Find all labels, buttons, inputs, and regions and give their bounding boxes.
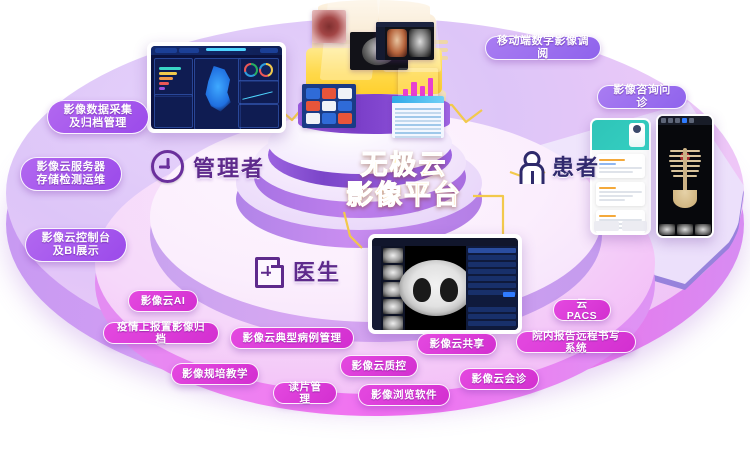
pill-line-1: 影像云典型病例管理 [243, 332, 342, 344]
pill-doctor-cloud-ai[interactable]: 影像云AI [128, 290, 198, 312]
pill-line-1: 影像云AI [141, 295, 186, 307]
pill-admin-console-bi[interactable]: 影像云控制台 及BI展示 [25, 228, 127, 262]
role-patient[interactable]: 患者 [521, 150, 600, 182]
mini-endoscopy-image [312, 10, 346, 43]
pill-line-1: 院内报告远程书写系统 [527, 330, 625, 354]
doctor-pacs-monitor[interactable] [368, 234, 522, 334]
pill-line-1: 影像云服务器 [37, 161, 106, 174]
infographic-canvas: 无极云 影像平台 管理者 医生 患者 影像数据采集 及归档管理 影像云服务器 存… [0, 0, 750, 450]
mini-pacs-screen [376, 22, 434, 60]
pill-doctor-reading-management[interactable]: 读片管理 [273, 382, 337, 404]
pill-line-1: 影像咨询问诊 [608, 84, 676, 109]
pill-line-2: 存储检测运维 [37, 174, 106, 187]
pill-doctor-cloud-pacs[interactable]: 云PACS [553, 299, 611, 321]
pill-doctor-cloud-consultation[interactable]: 影像云会诊 [459, 368, 539, 390]
mini-data-table-screen [392, 96, 444, 138]
pill-line-1: 影像浏览软件 [371, 389, 437, 401]
pill-line-1: 疫情上报置影像归档 [114, 321, 208, 345]
platform-title-line1: 无极云 [324, 150, 484, 180]
pill-patient-mobile-imaging[interactable]: 移动端数字影像调阅 [485, 36, 601, 60]
pill-admin-data-capture[interactable]: 影像数据采集 及归档管理 [47, 100, 149, 134]
pill-line-1: 影像云质控 [352, 360, 407, 372]
pill-doctor-quality-control[interactable]: 影像云质控 [340, 355, 418, 377]
pill-admin-cloud-server[interactable]: 影像云服务器 存储检测运维 [20, 157, 122, 191]
pill-patient-consultation[interactable]: 影像咨询问诊 [597, 85, 687, 109]
pill-line-1: 读片管理 [284, 381, 326, 405]
pill-line-1: 影像规培教学 [182, 368, 248, 380]
platform-title-line2: 影像平台 [324, 180, 484, 210]
pill-line-1: 影像数据采集 [64, 104, 133, 117]
pill-line-1: 云PACS [564, 298, 600, 322]
role-admin-label: 管理者 [193, 151, 265, 183]
ct-chest-image [399, 260, 473, 316]
pill-doctor-viewer-software[interactable]: 影像浏览软件 [358, 384, 450, 406]
mini-app-tiles-screen [302, 84, 356, 128]
pill-doctor-cloud-sharing[interactable]: 影像云共享 [417, 333, 497, 355]
pill-line-1: 影像云会诊 [472, 373, 527, 385]
platform-title: 无极云 影像平台 [324, 150, 484, 210]
pill-doctor-remote-report-system[interactable]: 院内报告远程书写系统 [516, 331, 636, 353]
pill-line-1: 移动端数字影像调阅 [496, 35, 590, 60]
pill-doctor-case-management[interactable]: 影像云典型病例管理 [230, 327, 354, 349]
medical-record-plus-icon [255, 257, 284, 285]
pill-line-1: 影像云共享 [430, 338, 485, 350]
role-patient-label: 患者 [552, 150, 600, 182]
pill-doctor-training-teaching[interactable]: 影像规培教学 [171, 363, 259, 385]
pill-doctor-epidemic-report[interactable]: 疫情上报置影像归档 [103, 322, 219, 344]
pill-line-2: 及归档管理 [69, 117, 127, 130]
role-doctor-label: 医生 [293, 255, 341, 287]
admin-bi-dashboard-monitor[interactable] [147, 42, 286, 133]
pill-line-2: 及BI展示 [53, 245, 100, 258]
skeleton-3d-render [668, 142, 702, 208]
plus-circle-icon [151, 150, 184, 183]
role-admin[interactable]: 管理者 [151, 150, 265, 183]
pill-line-1: 影像云控制台 [42, 232, 111, 245]
patient-3d-imaging-phone[interactable] [656, 114, 714, 238]
person-icon [521, 151, 543, 181]
role-doctor[interactable]: 医生 [255, 255, 341, 287]
